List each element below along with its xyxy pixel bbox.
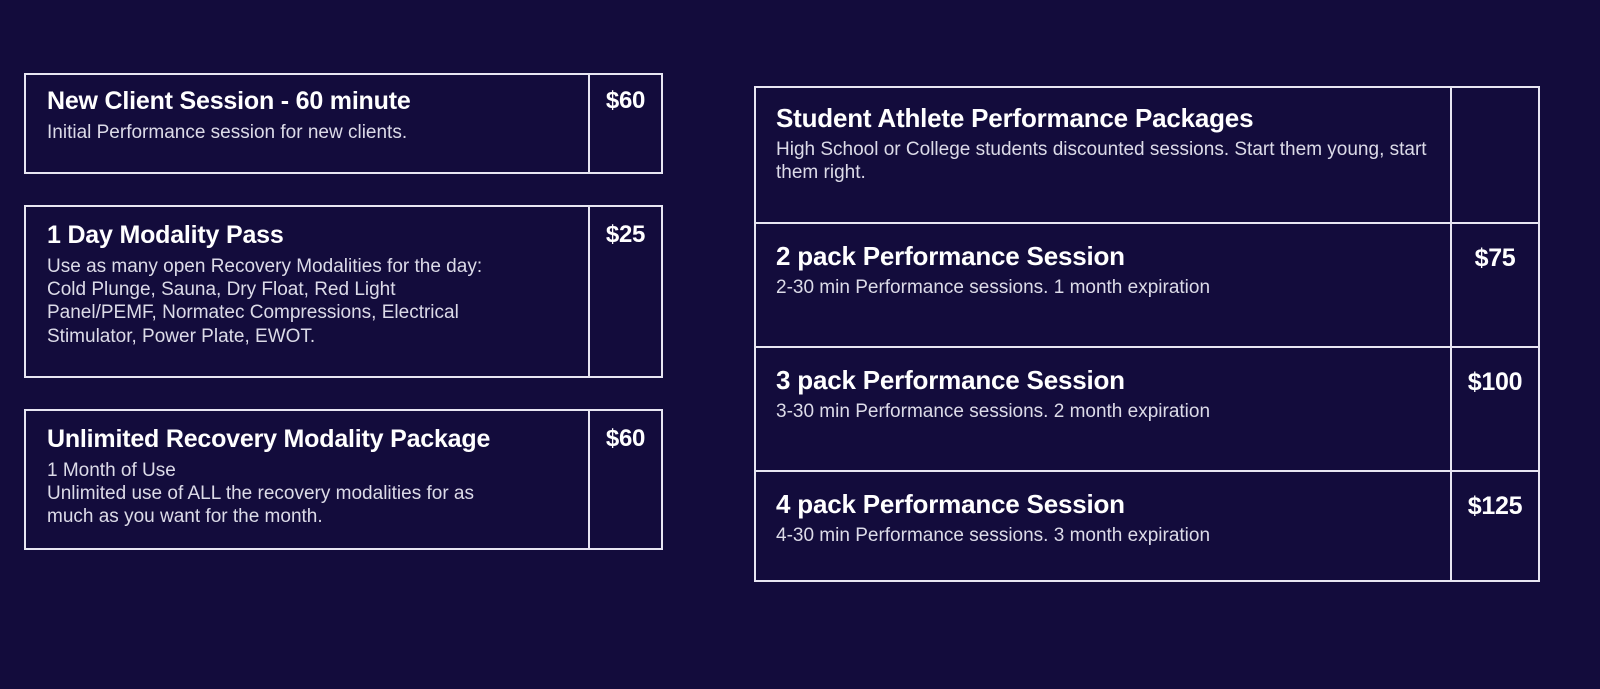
table-cell-body: 2 pack Performance Session 2-30 min Perf… — [756, 224, 1452, 346]
table-row-title: 2 pack Performance Session — [776, 242, 1434, 271]
table-row-description: 2-30 min Performance sessions. 1 month e… — [776, 276, 1434, 299]
table-row-description: 3-30 min Performance sessions. 2 month e… — [776, 400, 1434, 423]
pricing-card-description: 1 Month of Use Unlimited use of ALL the … — [47, 459, 574, 529]
table-cell-price: $125 — [1452, 472, 1538, 580]
table-row-student-athlete-header[interactable]: Student Athlete Performance Packages Hig… — [756, 88, 1538, 222]
table-row-title: 4 pack Performance Session — [776, 490, 1434, 519]
pricing-card-unlimited-recovery-modality-package[interactable]: Unlimited Recovery Modality Package 1 Mo… — [24, 409, 663, 550]
pricing-menu-board: New Client Session - 60 minute Initial P… — [0, 0, 1600, 689]
table-row-4-pack-performance-session[interactable]: 4 pack Performance Session 4-30 min Perf… — [756, 470, 1538, 580]
table-cell-body: 4 pack Performance Session 4-30 min Perf… — [756, 472, 1452, 580]
table-row-title: 3 pack Performance Session — [776, 366, 1434, 395]
pricing-card-body: New Client Session - 60 minute Initial P… — [26, 75, 590, 172]
student-athlete-packages-table: Student Athlete Performance Packages Hig… — [754, 86, 1540, 582]
table-row-price — [1452, 102, 1538, 103]
pricing-card-description: Use as many open Recovery Modalities for… — [47, 255, 574, 348]
table-row-description: High School or College students discount… — [776, 138, 1434, 184]
table-row-3-pack-performance-session[interactable]: 3 pack Performance Session 3-30 min Perf… — [756, 346, 1538, 470]
table-row-2-pack-performance-session[interactable]: 2 pack Performance Session 2-30 min Perf… — [756, 222, 1538, 346]
pricing-card-price: $60 — [606, 87, 645, 114]
pricing-card-description: Initial Performance session for new clie… — [47, 121, 574, 144]
pricing-card-title: 1 Day Modality Pass — [47, 221, 574, 249]
pricing-card-price-cell: $25 — [590, 207, 661, 376]
pricing-card-1-day-modality-pass[interactable]: 1 Day Modality Pass Use as many open Rec… — [24, 205, 663, 378]
table-cell-price — [1452, 88, 1538, 222]
pricing-card-title: Unlimited Recovery Modality Package — [47, 425, 574, 453]
table-row-price: $75 — [1475, 244, 1516, 272]
pricing-card-price: $25 — [606, 221, 645, 248]
pricing-card-price-cell: $60 — [590, 75, 661, 172]
table-cell-price: $100 — [1452, 348, 1538, 470]
table-cell-body: Student Athlete Performance Packages Hig… — [756, 88, 1452, 222]
pricing-card-body: Unlimited Recovery Modality Package 1 Mo… — [26, 411, 590, 548]
pricing-card-title: New Client Session - 60 minute — [47, 87, 574, 115]
pricing-card-new-client-session[interactable]: New Client Session - 60 minute Initial P… — [24, 73, 663, 174]
table-cell-body: 3 pack Performance Session 3-30 min Perf… — [756, 348, 1452, 470]
table-row-price: $125 — [1468, 492, 1522, 520]
table-row-title: Student Athlete Performance Packages — [776, 104, 1434, 133]
table-row-description: 4-30 min Performance sessions. 3 month e… — [776, 524, 1434, 547]
table-row-price: $100 — [1468, 368, 1522, 396]
pricing-card-price: $60 — [606, 425, 645, 452]
table-cell-price: $75 — [1452, 224, 1538, 346]
pricing-card-price-cell: $60 — [590, 411, 661, 548]
left-pricing-column: New Client Session - 60 minute Initial P… — [24, 73, 663, 550]
pricing-card-body: 1 Day Modality Pass Use as many open Rec… — [26, 207, 590, 376]
